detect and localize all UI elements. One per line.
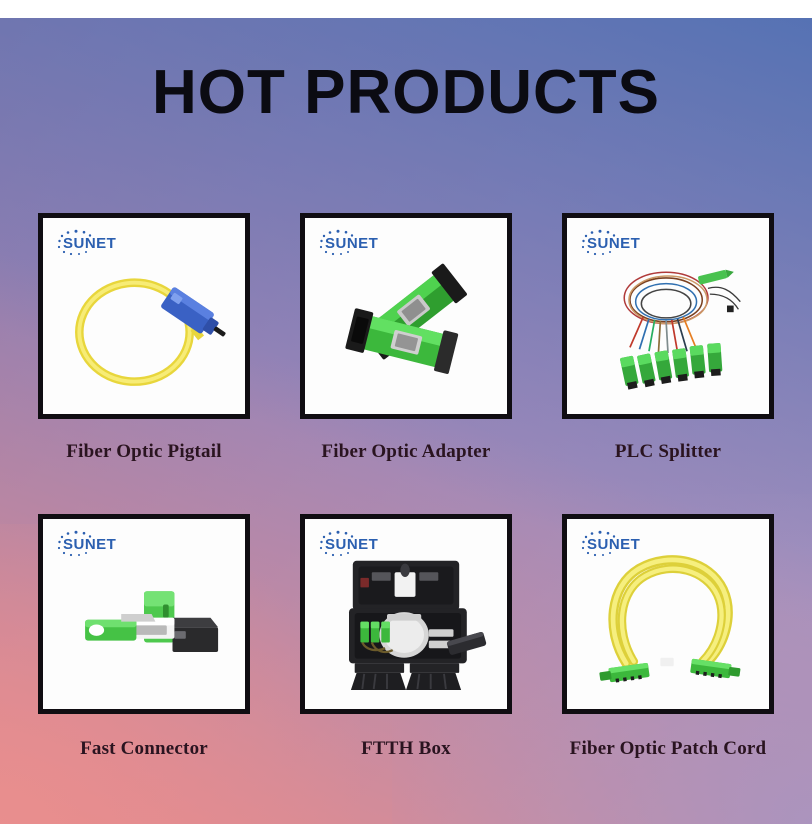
product-card[interactable]: SUNET (300, 213, 512, 419)
product-card[interactable]: SUNET (562, 514, 774, 714)
product-card[interactable]: SUNET (300, 514, 512, 714)
product-grid: SUNET Fiber Optic Pigtail (38, 213, 774, 760)
svg-text:SUNET: SUNET (325, 536, 378, 553)
product-row: SUNET Fast Connector (38, 514, 774, 760)
product-caption: PLC Splitter (562, 441, 774, 463)
svg-text:SUNET: SUNET (63, 536, 116, 553)
svg-text:SUNET: SUNET (587, 235, 640, 252)
svg-text:SUNET: SUNET (325, 235, 378, 252)
svg-text:SUNET: SUNET (63, 235, 116, 252)
product-caption: Fiber Optic Pigtail (38, 441, 250, 463)
sunet-logo-icon: SUNET (318, 229, 404, 257)
sunet-logo-icon: SUNET (318, 530, 404, 558)
product-cell[interactable]: SUNET FTTH Box (300, 514, 512, 760)
sunet-logo-icon: SUNET (56, 229, 142, 257)
svg-text:SUNET: SUNET (587, 536, 640, 553)
product-caption: Fiber Optic Patch Cord (562, 738, 774, 760)
hot-products-banner: HOT PRODUCTS (0, 0, 812, 824)
product-caption: FTTH Box (300, 738, 512, 760)
product-cell[interactable]: SUNET Fast Connector (38, 514, 250, 760)
product-cell[interactable]: SUNET Fiber Optic Pigtail (38, 213, 250, 463)
product-caption: Fast Connector (38, 738, 250, 760)
product-card[interactable]: SUNET (38, 514, 250, 714)
page-title: HOT PRODUCTS (0, 62, 812, 124)
product-cell[interactable]: SUNET PLC Splitter (562, 213, 774, 463)
product-cell[interactable]: SUNET Fiber Optic Patch Cord (562, 514, 774, 760)
sunet-logo-icon: SUNET (580, 530, 666, 558)
sunet-logo-icon: SUNET (56, 530, 142, 558)
product-cell[interactable]: SUNET Fiber Optic Adapter (300, 213, 512, 463)
sunet-logo-icon: SUNET (580, 229, 666, 257)
product-card[interactable]: SUNET (562, 213, 774, 419)
product-card[interactable]: SUNET (38, 213, 250, 419)
product-row: SUNET Fiber Optic Pigtail (38, 213, 774, 463)
product-caption: Fiber Optic Adapter (300, 441, 512, 463)
